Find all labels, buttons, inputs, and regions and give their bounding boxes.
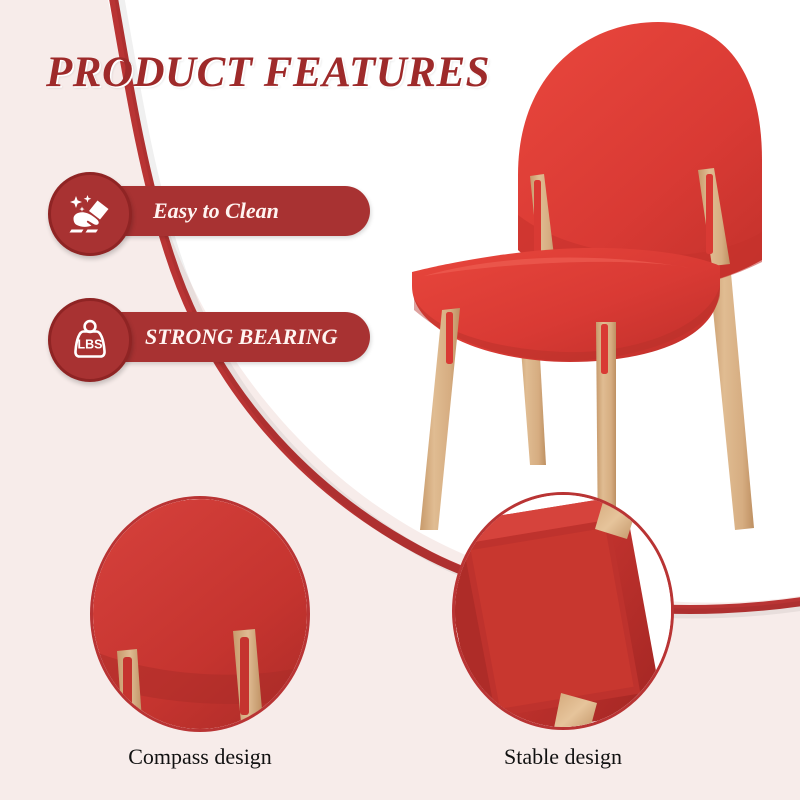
feature-icon-circle: LBS xyxy=(48,298,132,382)
feature-pill: Easy to Clean xyxy=(95,186,370,236)
weight-lbs-icon: LBS xyxy=(67,317,113,363)
detail-stable-design[interactable]: Stable design xyxy=(452,492,674,730)
hand-wipe-sparkle-icon xyxy=(67,191,113,237)
detail-compass-design[interactable]: Compass design xyxy=(90,496,310,732)
chair-backrest-closeup-image xyxy=(93,499,310,732)
detail-caption: Compass design xyxy=(90,744,310,770)
feature-pill: STRONG BEARING xyxy=(95,312,370,362)
chair-seat-underside-closeup-image xyxy=(455,495,674,730)
feature-icon-circle xyxy=(48,172,132,256)
product-image-chair xyxy=(390,10,800,570)
detail-ring xyxy=(90,496,310,732)
infographic-canvas: PRODUCT FEATURES Easy to Clean xyxy=(0,0,800,800)
weight-icon-text: LBS xyxy=(78,338,103,352)
detail-caption: Stable design xyxy=(452,744,674,770)
detail-ring xyxy=(452,492,674,730)
